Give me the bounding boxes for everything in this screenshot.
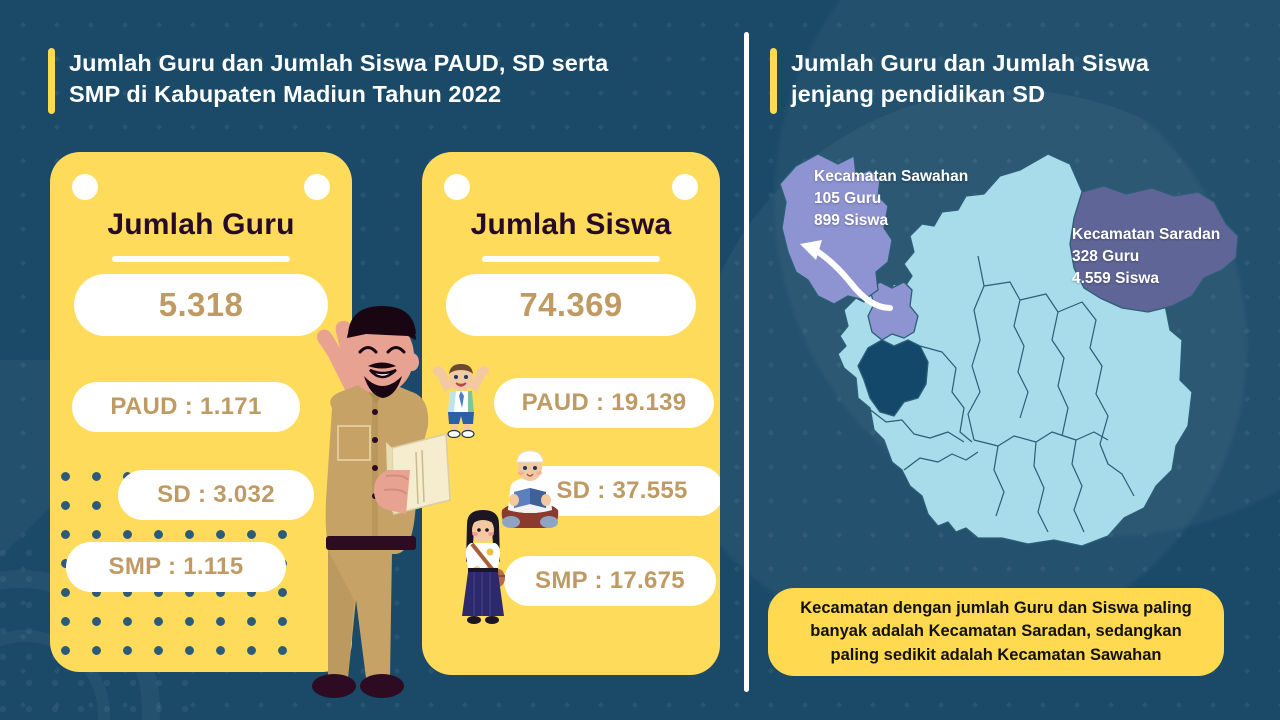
title-underline	[112, 256, 290, 262]
punch-hole-icon	[304, 174, 330, 200]
card-siswa-level-paud: PAUD : 19.139	[494, 378, 714, 428]
map-label-sawahan: Kecamatan Sawahan 105 Guru 899 Siswa	[814, 166, 968, 232]
punch-hole-icon	[72, 174, 98, 200]
student-girl-illustration-icon	[452, 508, 514, 628]
map-kabupaten-madiun: Kecamatan Sawahan 105 Guru 899 Siswa Kec…	[752, 140, 1264, 572]
map-label-saradan: Kecamatan Saradan 328 Guru 4.559 Siswa	[1072, 224, 1220, 290]
left-title-text: Jumlah Guru dan Jumlah Siswa PAUD, SD se…	[69, 48, 608, 111]
card-siswa-title: Jumlah Siswa	[422, 208, 720, 242]
punch-hole-icon	[672, 174, 698, 200]
map-caption-box: Kecamatan dengan jumlah Guru dan Siswa p…	[768, 588, 1224, 676]
card-siswa-total: 74.369	[446, 274, 696, 336]
vertical-divider	[744, 32, 749, 692]
right-title-text: Jumlah Guru dan Jumlah Siswa jenjang pen…	[791, 48, 1149, 111]
card-siswa-level-smp: SMP : 17.675	[504, 556, 716, 606]
card-guru-level-smp: SMP : 1.115	[66, 542, 286, 592]
accent-bar-icon	[48, 48, 55, 114]
accent-bar-icon	[770, 48, 777, 114]
right-section-header: Jumlah Guru dan Jumlah Siswa jenjang pen…	[770, 48, 1149, 114]
left-section-header: Jumlah Guru dan Jumlah Siswa PAUD, SD se…	[48, 48, 608, 114]
card-guru-level-paud: PAUD : 1.171	[72, 382, 300, 432]
infographic-canvas: Jumlah Guru dan Jumlah Siswa PAUD, SD se…	[0, 0, 1280, 720]
title-underline	[482, 256, 660, 262]
punch-hole-icon	[444, 174, 470, 200]
student-boy-illustration-icon	[428, 358, 494, 438]
card-guru-title: Jumlah Guru	[50, 208, 352, 242]
